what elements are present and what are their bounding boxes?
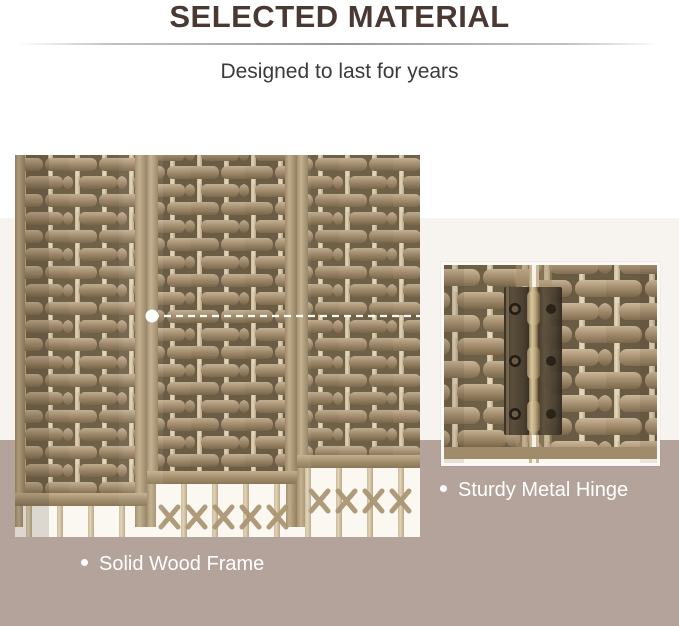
- divider-panel-right: [297, 155, 420, 537]
- divider-panel-left: [15, 155, 147, 537]
- header: SELECTED MATERIAL Designed to last for y…: [0, 0, 679, 100]
- bullet-dot-icon: [440, 485, 447, 492]
- main-panel-photo: [15, 155, 420, 537]
- callout-label: Solid Wood Frame: [99, 553, 264, 575]
- white-dot-marker-icon: [146, 310, 159, 323]
- woven-panel-illustration: [15, 155, 420, 537]
- hinge-panel-photo: [441, 262, 660, 466]
- page-subtitle: Designed to last for years: [0, 58, 679, 86]
- divider-panel-center: [147, 155, 297, 537]
- bullet-dot-icon: [81, 559, 88, 566]
- callout-label: Sturdy Metal Hinge: [458, 479, 628, 501]
- callout-sturdy-metal-hinge: Sturdy Metal Hinge: [440, 478, 628, 502]
- metal-hinge-icon: [504, 287, 562, 435]
- page-title: SELECTED MATERIAL: [0, 0, 679, 35]
- callout-solid-wood-frame: Solid Wood Frame: [81, 552, 264, 576]
- header-divider: [18, 43, 661, 45]
- hinge-closeup-illustration: [444, 265, 657, 463]
